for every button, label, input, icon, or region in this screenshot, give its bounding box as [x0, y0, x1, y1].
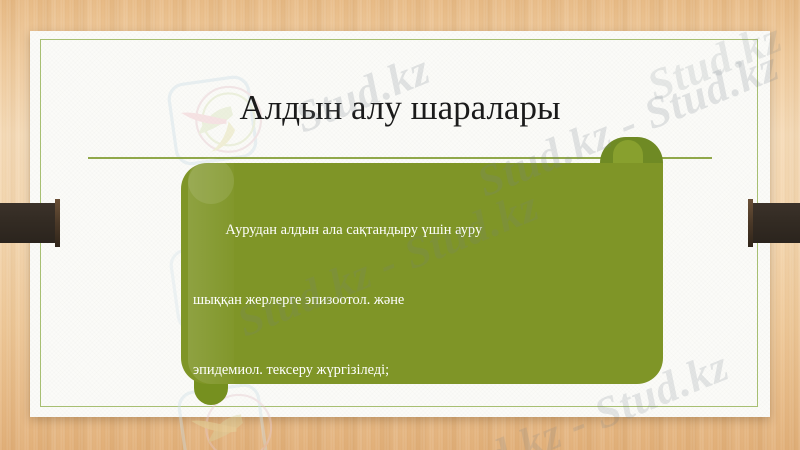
- ribbon-cap-right: [748, 199, 753, 247]
- ribbon-cap-left: [55, 199, 60, 247]
- body-line: шыққан жерлерге эпизоотол. және: [193, 289, 665, 312]
- presentation-slide: Алдын алу шаралары Аурудан алдын ала сақ…: [0, 0, 800, 450]
- body-line: эпидемиол. тексеру жүргізіледі;: [193, 359, 665, 378]
- decorative-ribbon-right: [752, 203, 800, 243]
- body-line: Аурудан алдын ала сақтандыру үшін ауру: [193, 219, 665, 242]
- slide-body-text: Аурудан алдын ала сақтандыру үшін ауру ш…: [193, 172, 665, 378]
- slide-title: Алдын алу шаралары: [90, 86, 710, 130]
- decorative-ribbon-left: [0, 203, 60, 243]
